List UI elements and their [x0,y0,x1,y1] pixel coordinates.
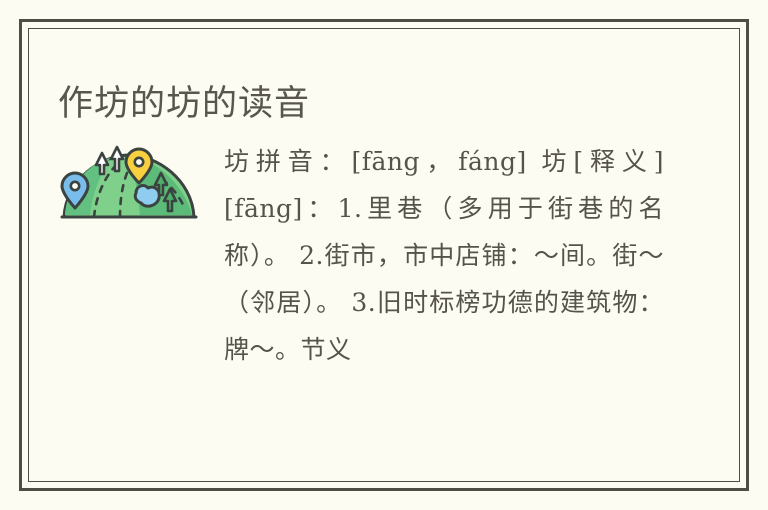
map-with-pins-icon [54,141,204,227]
page-root: 作坊的坊的读音 [0,0,768,510]
map-illustration [54,141,204,227]
content-area: 作坊的坊的读音 [28,28,740,482]
definition-text: 坊拼音：[fāng，fáng] 坊[释义] [fāng]：1.里巷（多用于街巷的… [224,138,664,373]
page-title: 作坊的坊的读音 [58,83,310,125]
